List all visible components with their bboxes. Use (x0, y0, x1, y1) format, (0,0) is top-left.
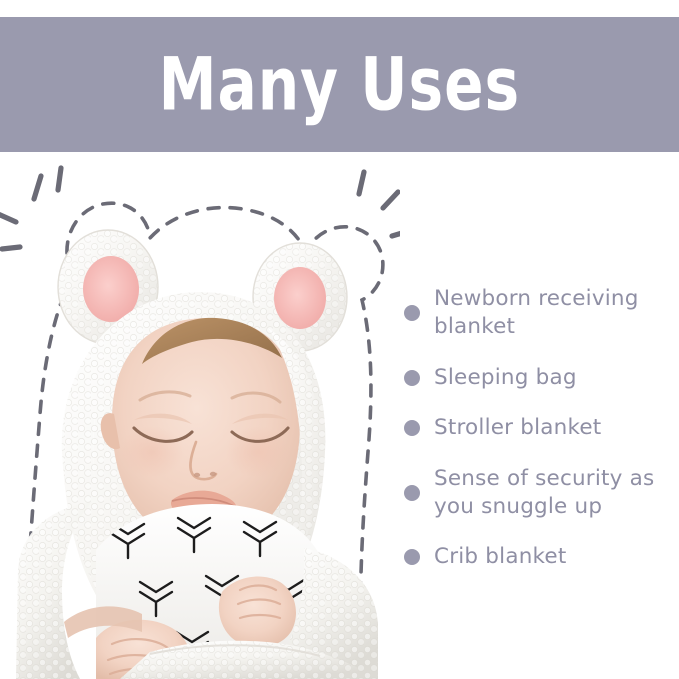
content-area: Newborn receiving blanket Sleeping bag S… (0, 152, 679, 679)
list-item-label: Sense of security as you snuggle up (434, 465, 672, 522)
list-item-label: Sleeping bag (434, 364, 577, 392)
bullet-icon (404, 420, 420, 436)
product-photo (0, 152, 400, 679)
baby-blanket-illustration (0, 152, 400, 679)
list-item-label: Stroller blanket (434, 414, 601, 442)
list-item: Crib blanket (404, 543, 672, 571)
list-item: Stroller blanket (404, 414, 672, 442)
bullet-icon (404, 370, 420, 386)
uses-list: Newborn receiving blanket Sleeping bag S… (404, 285, 672, 572)
list-item-label: Newborn receiving blanket (434, 285, 672, 342)
bullet-icon (404, 549, 420, 565)
bullet-icon (404, 305, 420, 321)
list-item: Sleeping bag (404, 364, 672, 392)
list-item: Newborn receiving blanket (404, 285, 672, 342)
list-item: Sense of security as you snuggle up (404, 465, 672, 522)
page-title: Many Uses (159, 48, 521, 121)
header-banner: Many Uses (0, 17, 679, 152)
bullet-icon (404, 485, 420, 501)
product-feature-panel: Many Uses (0, 0, 679, 679)
list-item-label: Crib blanket (434, 543, 566, 571)
